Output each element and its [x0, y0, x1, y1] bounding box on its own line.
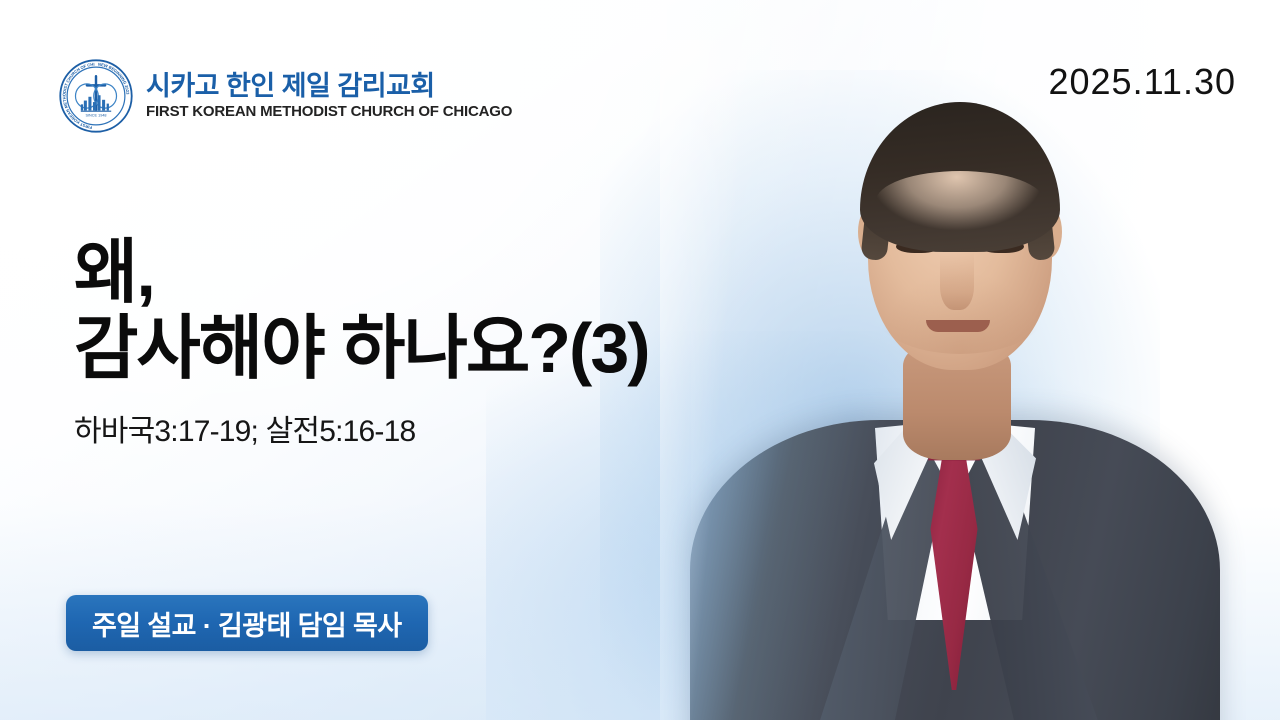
speaker-label: 주일 설교 · 김광태 담임 목사: [92, 604, 402, 643]
church-name-english: FIRST KOREAN METHODIST CHURCH OF CHICAGO: [146, 104, 512, 121]
portrait-mouth: [926, 320, 990, 332]
sermon-title-block: 왜, 감사해야 하나요?(3) 하바국3:17-19; 살전5:16-18: [74, 235, 764, 450]
sermon-date: 2025.11.30: [1048, 64, 1236, 100]
speaker-banner: 주일 설교 · 김광태 담임 목사: [66, 595, 428, 651]
portrait-nose: [940, 252, 974, 310]
sermon-title-line-1: 왜,: [74, 235, 764, 311]
svg-text:SINCE 1948: SINCE 1948: [85, 114, 106, 118]
sermon-title-card: SINCE 1948 NEW BEGINNING 2023 FIRST KORE…: [0, 0, 1280, 720]
church-logo-text: 시카고 한인 제일 감리교회 FIRST KOREAN METHODIST CH…: [146, 72, 512, 120]
church-logo: SINCE 1948 NEW BEGINNING 2023 FIRST KORE…: [58, 58, 512, 134]
scripture-reference: 하바국3:17-19; 살전5:16-18: [74, 406, 764, 450]
church-seal-icon: SINCE 1948 NEW BEGINNING 2023 FIRST KORE…: [58, 58, 134, 134]
church-name-korean: 시카고 한인 제일 감리교회: [146, 72, 512, 102]
sermon-title-line-2: 감사해야 하나요?(3): [74, 311, 764, 387]
